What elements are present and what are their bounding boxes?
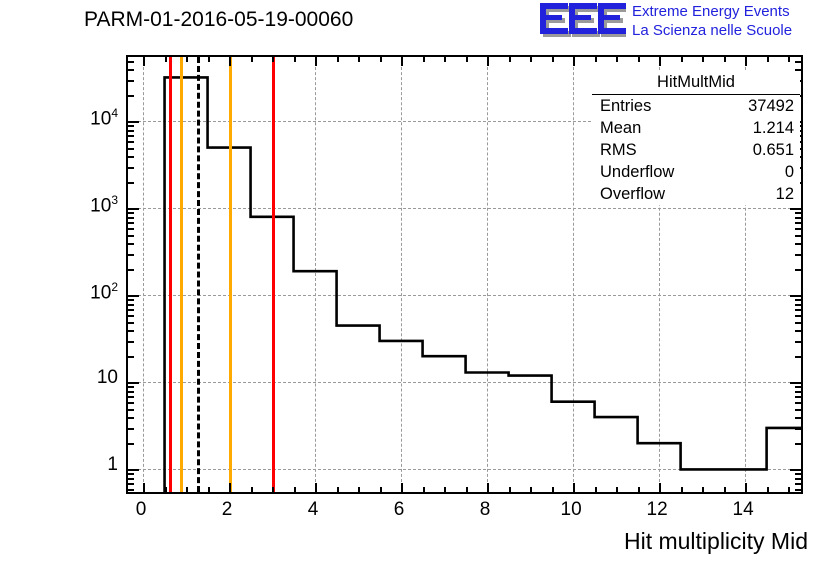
y-tick-minor bbox=[128, 443, 134, 445]
y-tick-major bbox=[128, 295, 139, 297]
x-tick-label: 4 bbox=[293, 499, 333, 521]
marker-line bbox=[229, 57, 232, 492]
stats-box: HitMultMid Entries37492Mean1.214RMS0.651… bbox=[592, 72, 800, 205]
root-canvas: PARM-01-2016-05-19-00060 Extreme Energy … bbox=[0, 0, 836, 572]
x-tick-minor bbox=[358, 57, 360, 62]
stats-row: Overflow12 bbox=[592, 183, 800, 205]
y-tick-minor bbox=[128, 228, 134, 230]
x-tick-major bbox=[487, 57, 489, 66]
y-tick-minor bbox=[128, 489, 134, 491]
x-tick-minor bbox=[552, 57, 554, 62]
y-tick-minor bbox=[128, 156, 134, 158]
y-tick-minor bbox=[128, 254, 134, 256]
y-tick-minor bbox=[795, 212, 801, 214]
x-tick-minor bbox=[272, 57, 274, 62]
x-tick-major bbox=[745, 483, 747, 492]
y-tick-minor bbox=[128, 409, 134, 411]
x-tick-minor bbox=[595, 487, 597, 492]
x-tick-minor bbox=[724, 487, 726, 492]
y-tick-minor bbox=[128, 61, 134, 63]
y-tick-minor bbox=[795, 235, 801, 237]
x-tick-minor bbox=[380, 57, 382, 62]
x-tick-minor bbox=[788, 57, 790, 62]
y-tick-minor bbox=[128, 417, 134, 419]
y-tick-major bbox=[790, 382, 801, 384]
y-tick-minor bbox=[128, 212, 134, 214]
x-tick-minor bbox=[509, 487, 511, 492]
stats-key: Mean bbox=[600, 119, 641, 138]
x-tick-minor bbox=[767, 487, 769, 492]
y-tick-minor bbox=[795, 356, 801, 358]
x-tick-minor bbox=[380, 487, 382, 492]
y-tick-minor bbox=[128, 391, 134, 393]
x-tick-major bbox=[659, 483, 661, 492]
x-tick-minor bbox=[294, 57, 296, 62]
eee-logo: Extreme Energy Events La Scienza nelle S… bbox=[540, 2, 832, 42]
x-tick-label: 0 bbox=[121, 499, 161, 521]
y-tick-minor bbox=[128, 304, 134, 306]
x-tick-major bbox=[573, 483, 575, 492]
y-tick-minor bbox=[128, 243, 134, 245]
x-tick-minor bbox=[509, 57, 511, 62]
y-tick-minor bbox=[795, 61, 801, 63]
y-tick-minor bbox=[128, 386, 134, 388]
x-tick-minor bbox=[444, 57, 446, 62]
x-tick-major bbox=[573, 57, 575, 66]
y-tick-minor bbox=[128, 95, 134, 97]
x-tick-minor bbox=[186, 57, 188, 62]
y-tick-minor bbox=[795, 243, 801, 245]
marker-line bbox=[197, 57, 200, 492]
x-tick-minor bbox=[466, 57, 468, 62]
y-tick-major bbox=[790, 469, 801, 471]
y-tick-minor bbox=[795, 409, 801, 411]
y-tick-major bbox=[790, 208, 801, 210]
eee-logo-mark-icon bbox=[540, 3, 626, 37]
stats-value: 1.214 bbox=[753, 119, 794, 138]
x-tick-minor bbox=[337, 57, 339, 62]
y-tick-minor bbox=[128, 402, 134, 404]
x-tick-major bbox=[487, 483, 489, 492]
y-tick-minor bbox=[795, 391, 801, 393]
stats-title: HitMultMid bbox=[592, 72, 800, 95]
y-tick-minor bbox=[795, 269, 801, 271]
eee-logo-line2: La Scienza nelle Scuole bbox=[632, 21, 792, 40]
y-tick-minor bbox=[128, 330, 134, 332]
x-tick-minor bbox=[638, 487, 640, 492]
y-tick-minor bbox=[795, 228, 801, 230]
marker-line bbox=[272, 57, 275, 492]
x-tick-minor bbox=[616, 487, 618, 492]
x-tick-major bbox=[229, 483, 231, 492]
x-tick-minor bbox=[702, 487, 704, 492]
x-tick-minor bbox=[208, 57, 210, 62]
stats-value: 0 bbox=[785, 163, 794, 182]
stats-row: Entries37492 bbox=[592, 95, 800, 117]
x-tick-minor bbox=[681, 57, 683, 62]
y-tick-minor bbox=[128, 69, 134, 71]
y-tick-minor bbox=[795, 69, 801, 71]
y-tick-minor bbox=[795, 309, 801, 311]
y-tick-minor bbox=[128, 428, 134, 430]
stats-row: Mean1.214 bbox=[592, 117, 800, 139]
y-tick-label: 104 bbox=[58, 106, 118, 130]
x-tick-minor bbox=[186, 487, 188, 492]
x-tick-major bbox=[401, 57, 403, 66]
x-tick-minor bbox=[552, 487, 554, 492]
y-tick-minor bbox=[128, 148, 134, 150]
y-tick-minor bbox=[128, 235, 134, 237]
x-axis-title: Hit multiplicity Mid bbox=[624, 528, 808, 555]
y-tick-label: 10 bbox=[58, 367, 118, 389]
x-tick-minor bbox=[423, 57, 425, 62]
x-tick-minor bbox=[702, 57, 704, 62]
x-tick-minor bbox=[466, 487, 468, 492]
y-tick-major bbox=[128, 382, 139, 384]
x-tick-label: 10 bbox=[551, 499, 591, 521]
x-tick-label: 12 bbox=[637, 499, 677, 521]
x-tick-major bbox=[143, 483, 145, 492]
stats-row: Underflow0 bbox=[592, 161, 800, 183]
marker-line bbox=[169, 57, 172, 492]
x-tick-label: 6 bbox=[379, 499, 419, 521]
y-tick-label: 103 bbox=[58, 193, 118, 217]
y-tick-minor bbox=[795, 428, 801, 430]
y-tick-label: 102 bbox=[58, 280, 118, 304]
y-tick-minor bbox=[795, 483, 801, 485]
y-tick-minor bbox=[795, 417, 801, 419]
x-tick-minor bbox=[530, 57, 532, 62]
y-tick-minor bbox=[128, 222, 134, 224]
y-tick-minor bbox=[795, 402, 801, 404]
x-tick-minor bbox=[724, 57, 726, 62]
x-tick-minor bbox=[767, 57, 769, 62]
y-tick-minor bbox=[128, 299, 134, 301]
y-tick-minor bbox=[128, 80, 134, 82]
y-tick-minor bbox=[128, 315, 134, 317]
x-tick-minor bbox=[358, 487, 360, 492]
marker-line bbox=[180, 57, 183, 492]
x-tick-minor bbox=[638, 57, 640, 62]
x-tick-minor bbox=[294, 487, 296, 492]
y-tick-minor bbox=[128, 478, 134, 480]
y-tick-minor bbox=[795, 315, 801, 317]
y-tick-minor bbox=[795, 341, 801, 343]
stats-value: 37492 bbox=[748, 97, 794, 116]
x-tick-major bbox=[745, 57, 747, 66]
x-tick-minor bbox=[165, 57, 167, 62]
stats-value: 12 bbox=[776, 185, 794, 204]
y-tick-minor bbox=[128, 322, 134, 324]
stats-key: Entries bbox=[600, 97, 651, 116]
y-tick-minor bbox=[128, 356, 134, 358]
eee-logo-text: Extreme Energy Events La Scienza nelle S… bbox=[632, 2, 792, 40]
y-tick-minor bbox=[128, 167, 134, 169]
y-tick-minor bbox=[795, 254, 801, 256]
eee-logo-line1: Extreme Energy Events bbox=[632, 2, 792, 21]
y-tick-minor bbox=[795, 478, 801, 480]
x-tick-label: 2 bbox=[207, 499, 247, 521]
y-tick-minor bbox=[128, 341, 134, 343]
stats-rows: Entries37492Mean1.214RMS0.651Underflow0O… bbox=[592, 95, 800, 205]
y-tick-minor bbox=[795, 386, 801, 388]
y-tick-minor bbox=[128, 217, 134, 219]
x-tick-major bbox=[315, 483, 317, 492]
stats-value: 0.651 bbox=[753, 141, 794, 160]
y-tick-label: 1 bbox=[58, 454, 118, 476]
y-tick-minor bbox=[128, 309, 134, 311]
x-tick-major bbox=[315, 57, 317, 66]
y-tick-minor bbox=[128, 141, 134, 143]
y-tick-minor bbox=[795, 443, 801, 445]
y-tick-minor bbox=[795, 217, 801, 219]
y-tick-minor bbox=[128, 135, 134, 137]
y-tick-minor bbox=[128, 483, 134, 485]
x-tick-minor bbox=[251, 57, 253, 62]
y-tick-major bbox=[128, 469, 139, 471]
y-tick-minor bbox=[795, 396, 801, 398]
stats-row: RMS0.651 bbox=[592, 139, 800, 161]
y-tick-minor bbox=[795, 489, 801, 491]
x-tick-minor bbox=[616, 57, 618, 62]
x-tick-minor bbox=[444, 487, 446, 492]
page-title: PARM-01-2016-05-19-00060 bbox=[84, 8, 353, 32]
x-tick-label: 8 bbox=[465, 499, 505, 521]
x-tick-minor bbox=[165, 487, 167, 492]
y-tick-major bbox=[128, 208, 139, 210]
y-tick-major bbox=[128, 121, 139, 123]
x-tick-major bbox=[143, 57, 145, 66]
y-tick-minor bbox=[795, 330, 801, 332]
x-tick-minor bbox=[251, 487, 253, 492]
x-tick-minor bbox=[681, 487, 683, 492]
stats-key: Overflow bbox=[600, 185, 665, 204]
y-tick-minor bbox=[795, 304, 801, 306]
x-tick-label: 14 bbox=[723, 499, 763, 521]
x-tick-major bbox=[659, 57, 661, 66]
x-tick-minor bbox=[530, 487, 532, 492]
stats-key: Underflow bbox=[600, 163, 674, 182]
y-tick-minor bbox=[795, 322, 801, 324]
x-tick-minor bbox=[423, 487, 425, 492]
y-tick-minor bbox=[128, 396, 134, 398]
x-tick-major bbox=[229, 57, 231, 66]
y-tick-minor bbox=[795, 473, 801, 475]
y-tick-minor bbox=[128, 473, 134, 475]
x-tick-minor bbox=[595, 57, 597, 62]
x-tick-minor bbox=[788, 487, 790, 492]
y-tick-minor bbox=[795, 222, 801, 224]
y-tick-minor bbox=[128, 125, 134, 127]
x-tick-minor bbox=[272, 487, 274, 492]
x-tick-major bbox=[401, 483, 403, 492]
y-tick-minor bbox=[128, 182, 134, 184]
x-tick-minor bbox=[208, 487, 210, 492]
y-tick-minor bbox=[128, 130, 134, 132]
x-tick-minor bbox=[337, 487, 339, 492]
stats-key: RMS bbox=[600, 141, 637, 160]
y-tick-minor bbox=[795, 299, 801, 301]
y-tick-minor bbox=[128, 269, 134, 271]
y-tick-major bbox=[790, 295, 801, 297]
